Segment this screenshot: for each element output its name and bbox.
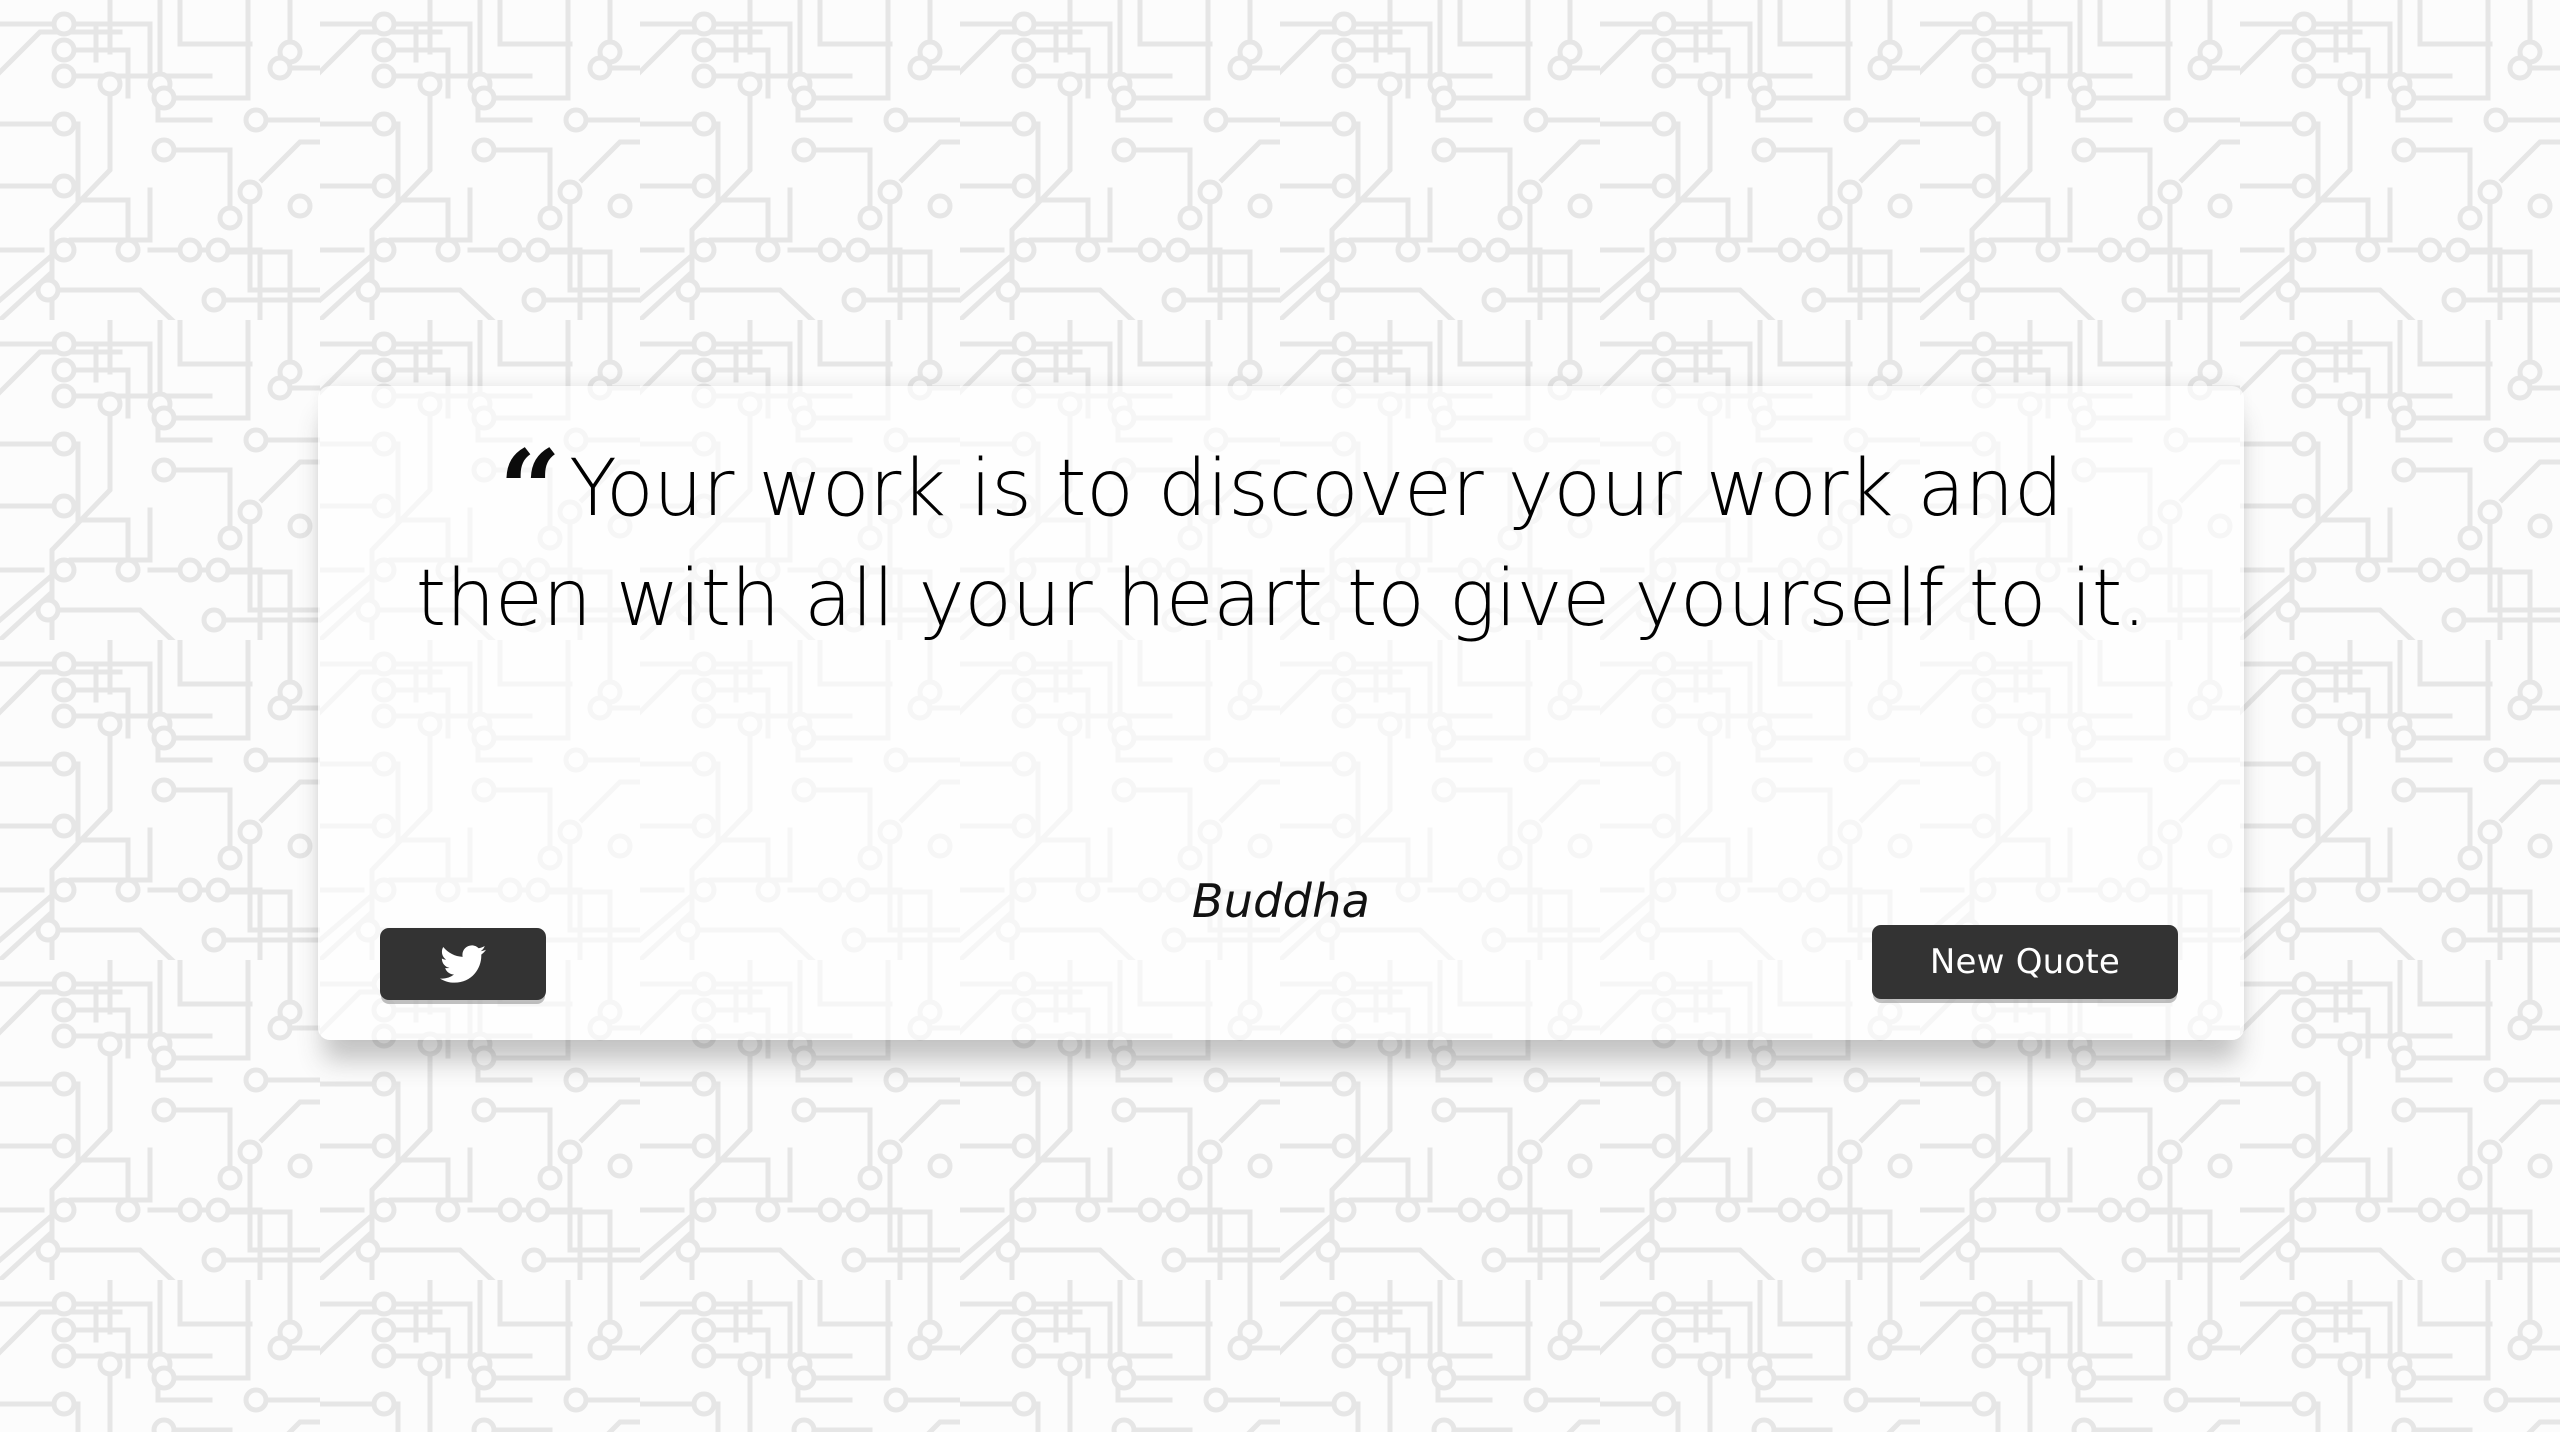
twitter-icon [440,941,486,987]
quote-text-container: “Your work is to discover your work and … [408,434,2154,654]
quote-body: Your work is to discover your work and t… [416,444,2147,644]
quote-author: Buddha [408,874,2154,928]
new-quote-button[interactable]: New Quote [1872,925,2178,999]
quote-card: “Your work is to discover your work and … [318,386,2244,1040]
tweet-quote-button[interactable] [380,928,546,1000]
quote-text: “Your work is to discover your work and … [408,434,2154,654]
